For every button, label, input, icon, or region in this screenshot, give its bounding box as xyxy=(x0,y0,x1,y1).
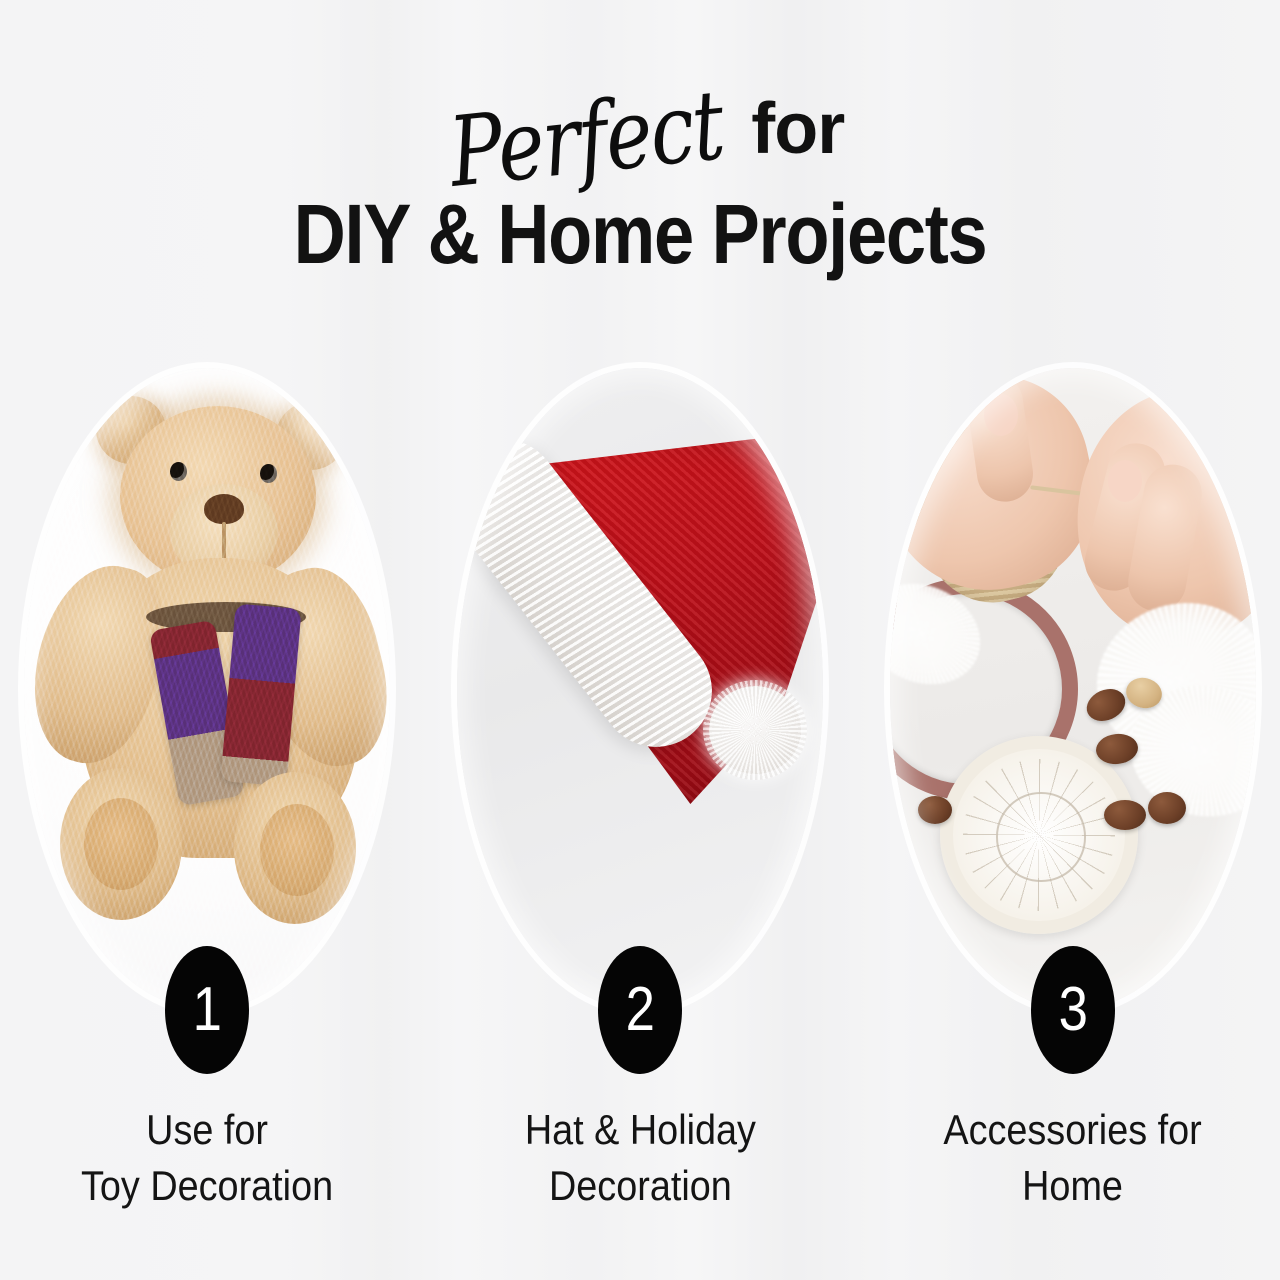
step-badge-1: 1 xyxy=(165,946,249,1074)
step-badge-3: 3 xyxy=(1031,946,1115,1074)
feature-cards-row: 1 Use for Toy Decoration 2 xyxy=(0,368,1280,1228)
craft-dreamcatcher-web xyxy=(963,759,1115,911)
feature-caption-2: Hat & Holiday Decoration xyxy=(524,1102,755,1215)
craft-dreamcatcher-ring-icon xyxy=(940,736,1138,934)
photo-craft-dreamcatcher xyxy=(890,368,1256,1010)
feature-caption-3: Accessories for Home xyxy=(944,1102,1202,1215)
teddy-bear-illustration xyxy=(24,368,390,1010)
caption-2-line-1: Hat & Holiday xyxy=(524,1106,755,1153)
craft-fingernail-2 xyxy=(1108,460,1142,502)
page-title: Perfectfor DIY & Home Projects xyxy=(0,78,1280,283)
oval-image-wrap-2: 2 xyxy=(457,368,823,1010)
photo-teddy-bear xyxy=(24,368,390,1010)
craft-bead-5 xyxy=(1148,792,1186,824)
feature-card-1: 1 Use for Toy Decoration xyxy=(8,368,406,1228)
teddy-paw-pad-left xyxy=(84,798,158,890)
caption-3-line-1: Accessories for xyxy=(944,1106,1202,1153)
title-bold-word: for xyxy=(751,73,844,185)
teddy-nose-icon xyxy=(204,494,244,524)
feature-caption-1: Use for Toy Decoration xyxy=(81,1102,333,1215)
craft-bead-4 xyxy=(1104,800,1146,830)
feature-card-3: 3 Accessories for Home xyxy=(874,368,1272,1228)
craft-illustration xyxy=(890,368,1256,1010)
title-line-1: Perfectfor xyxy=(0,78,1280,190)
caption-2-line-2: Decoration xyxy=(524,1158,755,1214)
step-badge-2: 2 xyxy=(598,946,682,1074)
santa-hat-pompom-icon xyxy=(709,686,801,774)
feature-card-2: 2 Hat & Holiday Decoration xyxy=(441,368,839,1228)
teddy-paw-pad-right xyxy=(260,804,334,896)
oval-image-wrap-1: 1 xyxy=(24,368,390,1010)
craft-bead-6 xyxy=(918,796,952,824)
infographic-root: Perfectfor DIY & Home Projects xyxy=(0,0,1280,1280)
craft-fingernail-1 xyxy=(984,394,1018,436)
caption-3-line-2: Home xyxy=(944,1158,1202,1214)
title-line-2: DIY & Home Projects xyxy=(90,186,1191,283)
caption-1-line-2: Toy Decoration xyxy=(81,1158,333,1214)
santa-hat-illustration xyxy=(457,368,823,1010)
oval-image-wrap-3: 3 xyxy=(890,368,1256,1010)
step-badge-number-2: 2 xyxy=(625,979,654,1041)
teddy-eye-right-icon xyxy=(260,464,277,483)
teddy-eye-left-icon xyxy=(170,462,187,481)
caption-1-line-1: Use for xyxy=(146,1106,268,1153)
step-badge-number-1: 1 xyxy=(192,979,221,1041)
step-badge-number-3: 3 xyxy=(1058,979,1087,1041)
photo-santa-hat xyxy=(457,368,823,1010)
